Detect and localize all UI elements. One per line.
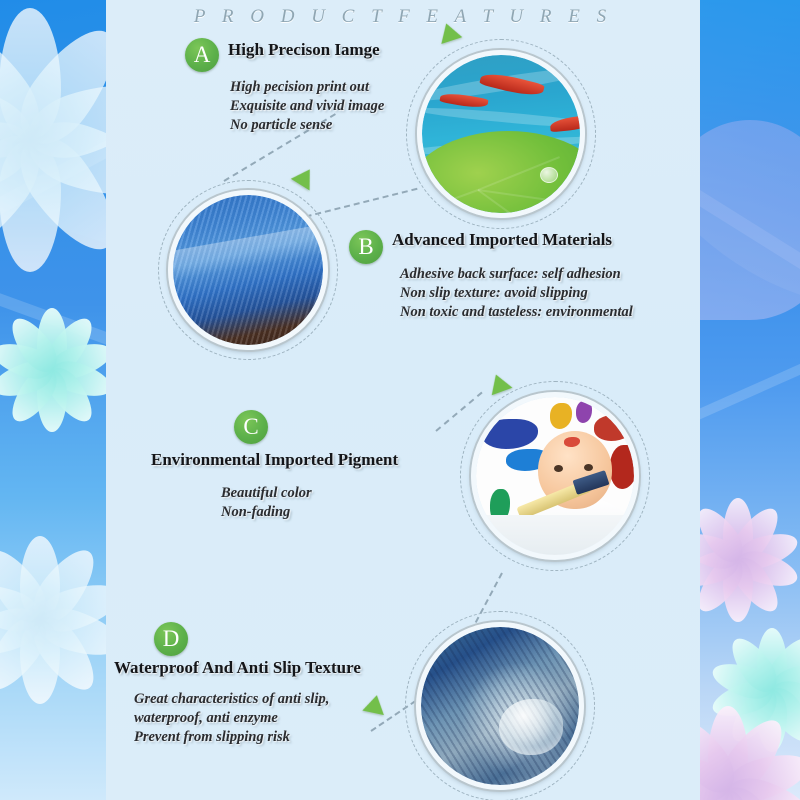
koi-pond-photo [417, 50, 585, 218]
heading-d: Waterproof And Anti Slip Texture [114, 658, 361, 678]
decor-streak [700, 126, 800, 307]
blue-fabric-photo [168, 190, 328, 350]
line-c-1: Beautiful color [221, 484, 312, 503]
arrow-to-photo-b [291, 164, 319, 191]
left-decorative-band [0, 0, 106, 800]
painted-floor [476, 515, 634, 555]
page-title: P R O D U C T F E A T U R E S [106, 6, 700, 28]
baby-eye [584, 464, 593, 471]
decor-streak [700, 335, 800, 474]
line-a-2: Exquisite and vivid image [230, 97, 384, 116]
line-b-2: Non slip texture: avoid slipping [400, 284, 633, 303]
product-features-poster: P R O D U C T F E A T U R E S A High Pre… [0, 0, 800, 800]
paint-splatter [610, 445, 634, 489]
line-a-3: No particle sense [230, 116, 384, 135]
water-droplet [540, 167, 558, 183]
line-d-2: waterproof, anti enzyme [134, 709, 329, 728]
badge-b: B [349, 230, 383, 264]
arrow-to-photo-d [362, 693, 387, 715]
lines-d: Great characteristics of anti slip, wate… [134, 690, 329, 747]
badge-d: D [154, 622, 188, 656]
heading-c: Environmental Imported Pigment [151, 450, 398, 470]
line-d-3: Prevent from slipping risk [134, 728, 329, 747]
lines-c: Beautiful color Non-fading [221, 484, 312, 522]
line-b-3: Non toxic and tasteless: environmental [400, 303, 633, 322]
badge-a: A [185, 38, 219, 72]
lily-vein [477, 189, 548, 213]
baby-eye [554, 465, 563, 472]
line-c-2: Non-fading [221, 503, 312, 522]
lily-vein [422, 189, 478, 213]
lines-b: Adhesive back surface: self adhesion Non… [400, 265, 633, 322]
badge-c: C [234, 410, 268, 444]
paint-on-forehead [564, 437, 580, 447]
painting-baby-photo [471, 392, 639, 560]
heading-a: High Precison Iamge [228, 40, 380, 60]
line-d-1: Great characteristics of anti slip, [134, 690, 329, 709]
line-b-1: Adhesive back surface: self adhesion [400, 265, 633, 284]
beaded-water-droplet [499, 699, 563, 755]
right-decorative-band [700, 0, 800, 800]
arrow-to-photo-c [486, 371, 513, 395]
content-panel: P R O D U C T F E A T U R E S A High Pre… [106, 0, 700, 800]
lines-a: High pecision print out Exquisite and vi… [230, 78, 384, 135]
line-a-1: High pecision print out [230, 78, 384, 97]
heading-b: Advanced Imported Materials [392, 230, 612, 250]
waterproof-texture-photo [416, 622, 584, 790]
